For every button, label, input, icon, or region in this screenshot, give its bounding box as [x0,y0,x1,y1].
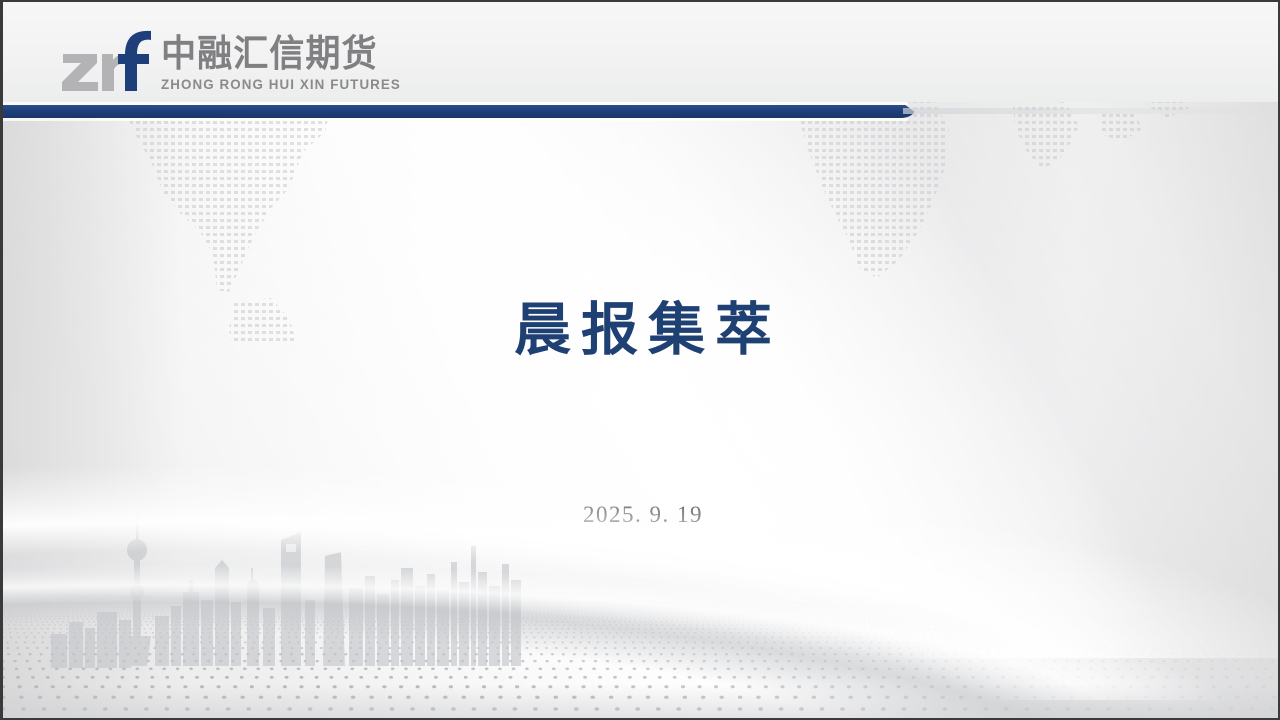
presentation-slide: 中融汇信期货 ZHONG RONG HUI XIN FUTURES 晨报集萃 2… [0,0,1280,720]
page-title: 晨报集萃 [3,284,1280,366]
slide-date: 2025. 9. 19 [3,502,1280,528]
logo-name-en: ZHONG RONG HUI XIN FUTURES [161,77,401,92]
logo-name-cn: 中融汇信期货 [161,35,391,74]
zrf-monogram-icon [61,30,153,92]
company-logo: 中融汇信期货 ZHONG RONG HUI XIN FUTURES [61,30,403,92]
